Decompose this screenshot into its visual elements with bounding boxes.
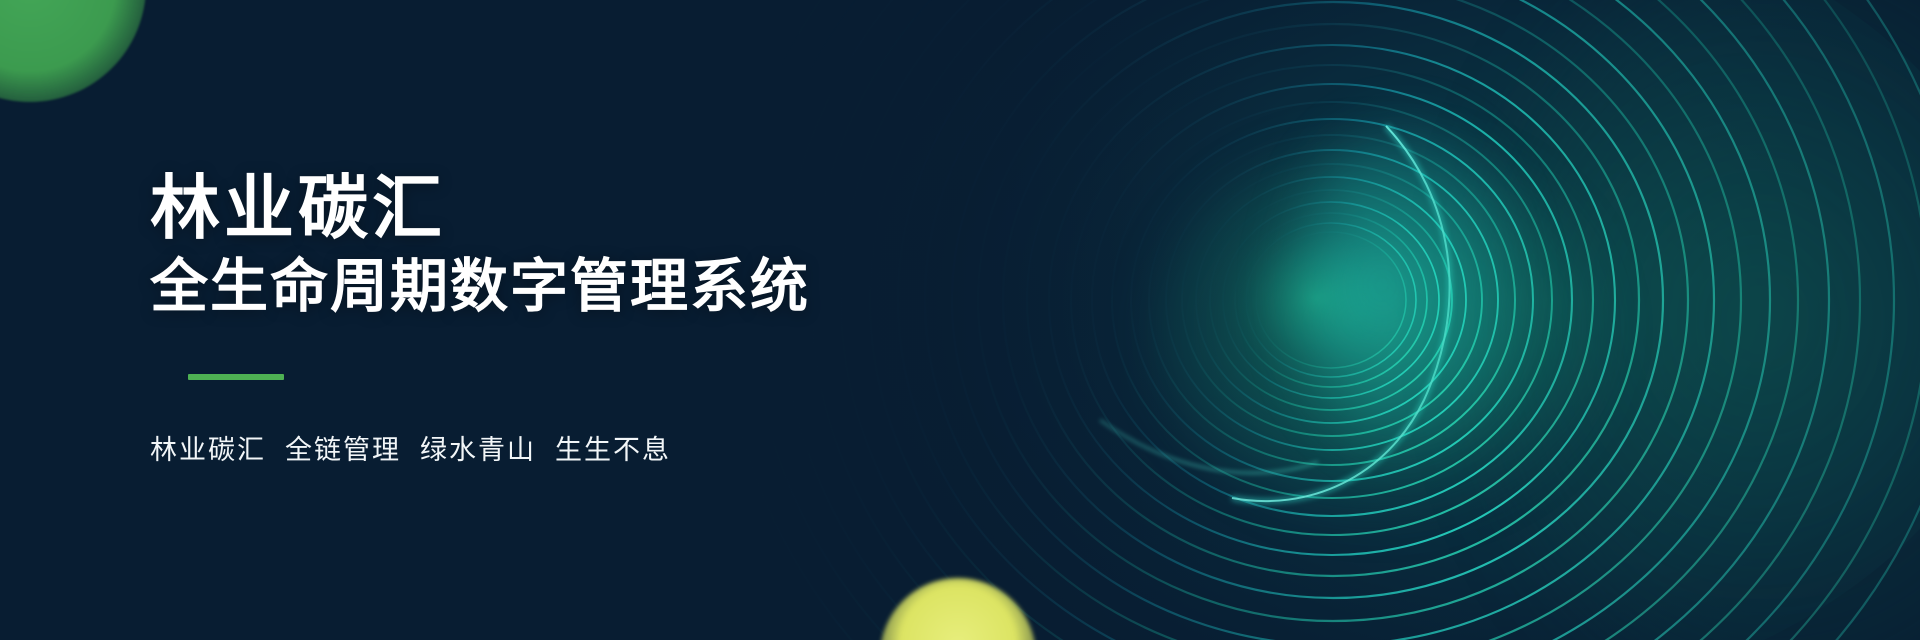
page-subtitle: 全生命周期数字管理系统 [150,257,810,318]
yellow-green-blob [880,578,1036,640]
hero-banner: 林业碳汇 全生命周期数字管理系统 林业碳汇 全链管理 绿水青山 生生不息 [0,0,1920,640]
hero-content: 林业碳汇 全生命周期数字管理系统 林业碳汇 全链管理 绿水青山 生生不息 [150,0,810,640]
page-title: 林业碳汇 [150,173,810,243]
green-divider [188,374,284,380]
vortex-highlight-arc [1100,126,1450,501]
vortex-ring-group [724,0,1920,640]
right-edge-glow [1480,0,1920,640]
green-circle-blob [0,0,146,102]
vortex-core [1208,206,1424,390]
core-green-glow [1150,140,1610,520]
vortex-field-glow [780,0,1920,640]
hero-tagline: 林业碳汇 全链管理 绿水青山 生生不息 [150,428,810,467]
core-cyan-glow [1290,120,1520,450]
